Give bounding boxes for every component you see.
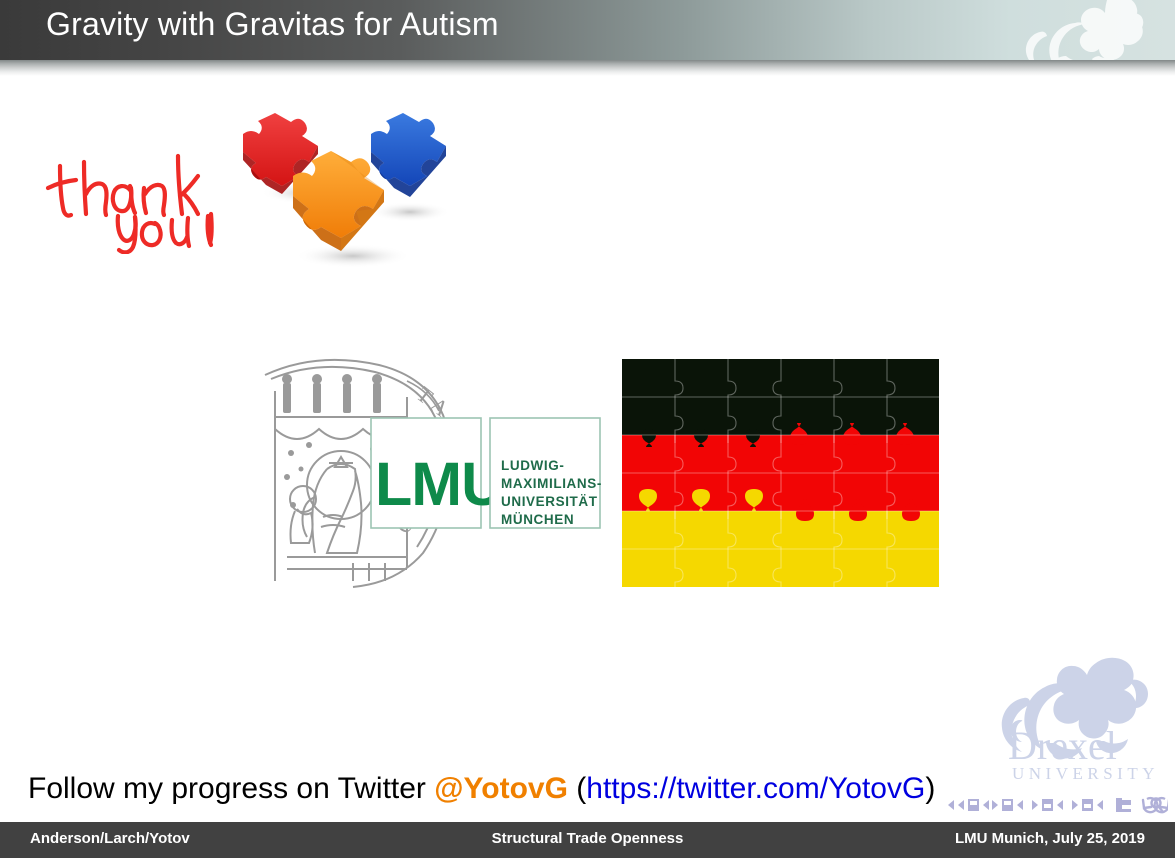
svg-text:MAXIMILIANS-: MAXIMILIANS- — [501, 476, 602, 491]
puzzle-pieces-graphic — [235, 108, 460, 268]
drexel-watermark: Drexel UNIVERSITY — [1000, 655, 1165, 785]
drexel-wordmark: Drexel — [1008, 723, 1117, 768]
twitter-open-paren: ( — [568, 772, 586, 805]
svg-text:UNIVERSITÄT: UNIVERSITÄT — [501, 494, 598, 509]
nav-previous-slide-icon — [958, 800, 964, 810]
nav-beamer-logo-icon — [1116, 798, 1131, 812]
twitter-handle[interactable]: @YotovG — [434, 772, 568, 805]
lmu-name-box: LUDWIG- MAXIMILIANS- UNIVERSITÄT MÜNCHEN — [490, 418, 602, 528]
nav-next-frame-icon — [983, 800, 989, 810]
thank-you-handwriting — [40, 144, 250, 254]
thank-you-graphic — [40, 108, 460, 268]
beamer-navigation-bar[interactable] — [946, 794, 1168, 816]
nav-first-slide-icon — [948, 800, 954, 810]
drexel-subtitle: UNIVERSITY — [1012, 764, 1159, 783]
slide-footer: Anderson/Larch/Yotov Structural Trade Op… — [0, 822, 1175, 858]
twitter-close-paren: ) — [925, 772, 935, 805]
lmu-mark-box: LMU — [371, 418, 504, 528]
nav-last-slide-icon — [1002, 799, 1013, 811]
lmu-logo: T A C·N LMU LUDWIG- MAXIMILIANS- UNIVERS… — [257, 357, 615, 589]
drexel-dragon-icon — [1011, 0, 1161, 60]
nav-previous-frame-icon — [968, 799, 979, 811]
twitter-lead-text: Follow my progress on Twitter — [28, 772, 434, 805]
page-title: Gravity with Gravitas for Autism — [46, 6, 499, 43]
german-flag-puzzle — [622, 359, 939, 587]
twitter-promo-line: Follow my progress on Twitter @YotovG (h… — [28, 772, 935, 806]
slide-title-bar: Gravity with Gravitas for Autism — [0, 0, 1175, 60]
footer-venue-date: LMU Munich, July 25, 2019 — [955, 830, 1145, 847]
nav-next-slide-icon — [992, 800, 998, 810]
svg-text:MÜNCHEN: MÜNCHEN — [501, 512, 574, 527]
twitter-url-link[interactable]: https://twitter.com/YotovG — [586, 772, 925, 805]
svg-text:LMU: LMU — [375, 450, 504, 518]
svg-text:LUDWIG-: LUDWIG- — [501, 458, 564, 473]
title-bar-shadow — [0, 60, 1175, 76]
blue-puzzle-piece — [371, 113, 446, 197]
